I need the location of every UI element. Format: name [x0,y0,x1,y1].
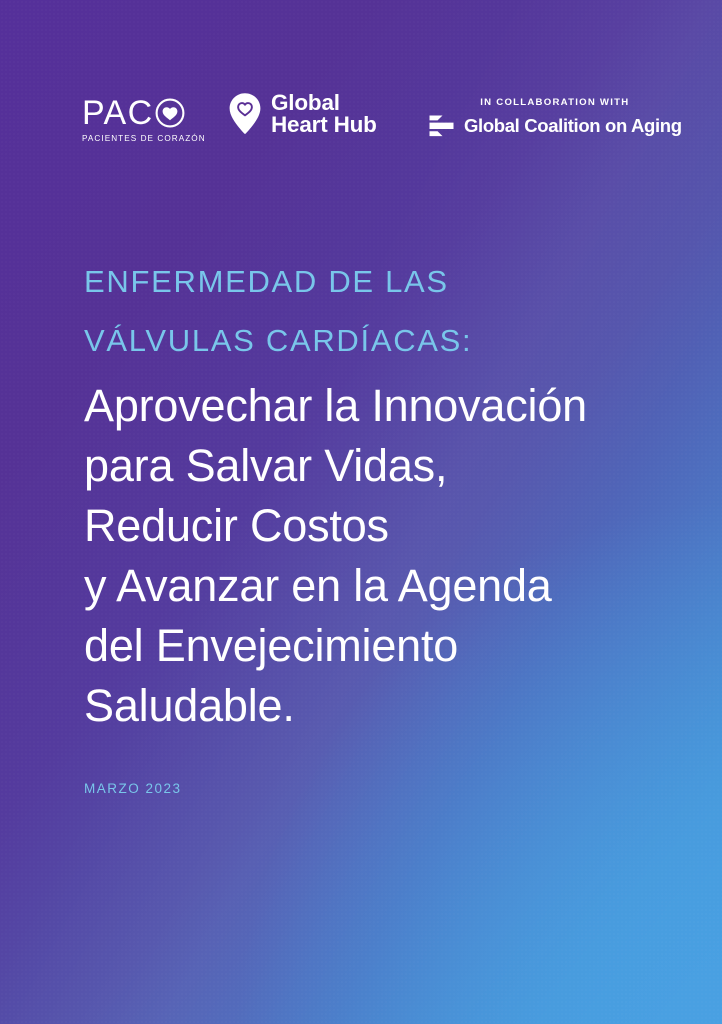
title-block: ENFERMEDAD DE LAS VÁLVULAS CARDÍACAS: Ap… [84,252,684,736]
global-heart-hub-wordmark: Global Heart Hub [271,92,377,135]
global-coalition-on-aging-logo: IN COLLABORATION WITH Global Coalition o… [428,97,682,138]
publication-date: MARZO 2023 [84,781,182,796]
headline-line: Aprovechar la Innovación [84,376,684,436]
ghh-line-1: Global [271,92,377,114]
gcoa-wordmark: Global Coalition on Aging [464,115,682,137]
title-eyebrow: ENFERMEDAD DE LAS VÁLVULAS CARDÍACAS: [84,252,684,370]
paco-wordmark: PAC [82,96,206,130]
logo-strip: PAC PACIENTES DE CORAZÓN Global [82,88,682,150]
paco-letters: PAC [82,96,154,130]
map-pin-heart-icon [228,92,262,135]
global-heart-hub-logo: Global Heart Hub [228,92,377,135]
headline-line: para Salvar Vidas, [84,436,684,496]
report-cover: PAC PACIENTES DE CORAZÓN Global [0,0,722,1024]
headline-line: Saludable. [84,676,684,736]
folded-flag-icon [428,114,455,138]
headline-line: y Avanzar en la Agenda [84,556,684,616]
eyebrow-line: VÁLVULAS CARDÍACAS: [84,311,684,370]
paco-logo: PAC PACIENTES DE CORAZÓN [82,96,206,143]
collaboration-label: IN COLLABORATION WITH [428,97,682,108]
eyebrow-line: ENFERMEDAD DE LAS [84,252,684,311]
paco-tagline: PACIENTES DE CORAZÓN [82,134,206,143]
page-title: Aprovechar la Innovación para Salvar Vid… [84,376,684,736]
heart-in-circle-icon [155,98,185,128]
gcoa-row: Global Coalition on Aging [428,114,682,138]
headline-line: del Envejecimiento [84,616,684,676]
headline-line: Reducir Costos [84,496,684,556]
ghh-line-2: Heart Hub [271,114,377,136]
